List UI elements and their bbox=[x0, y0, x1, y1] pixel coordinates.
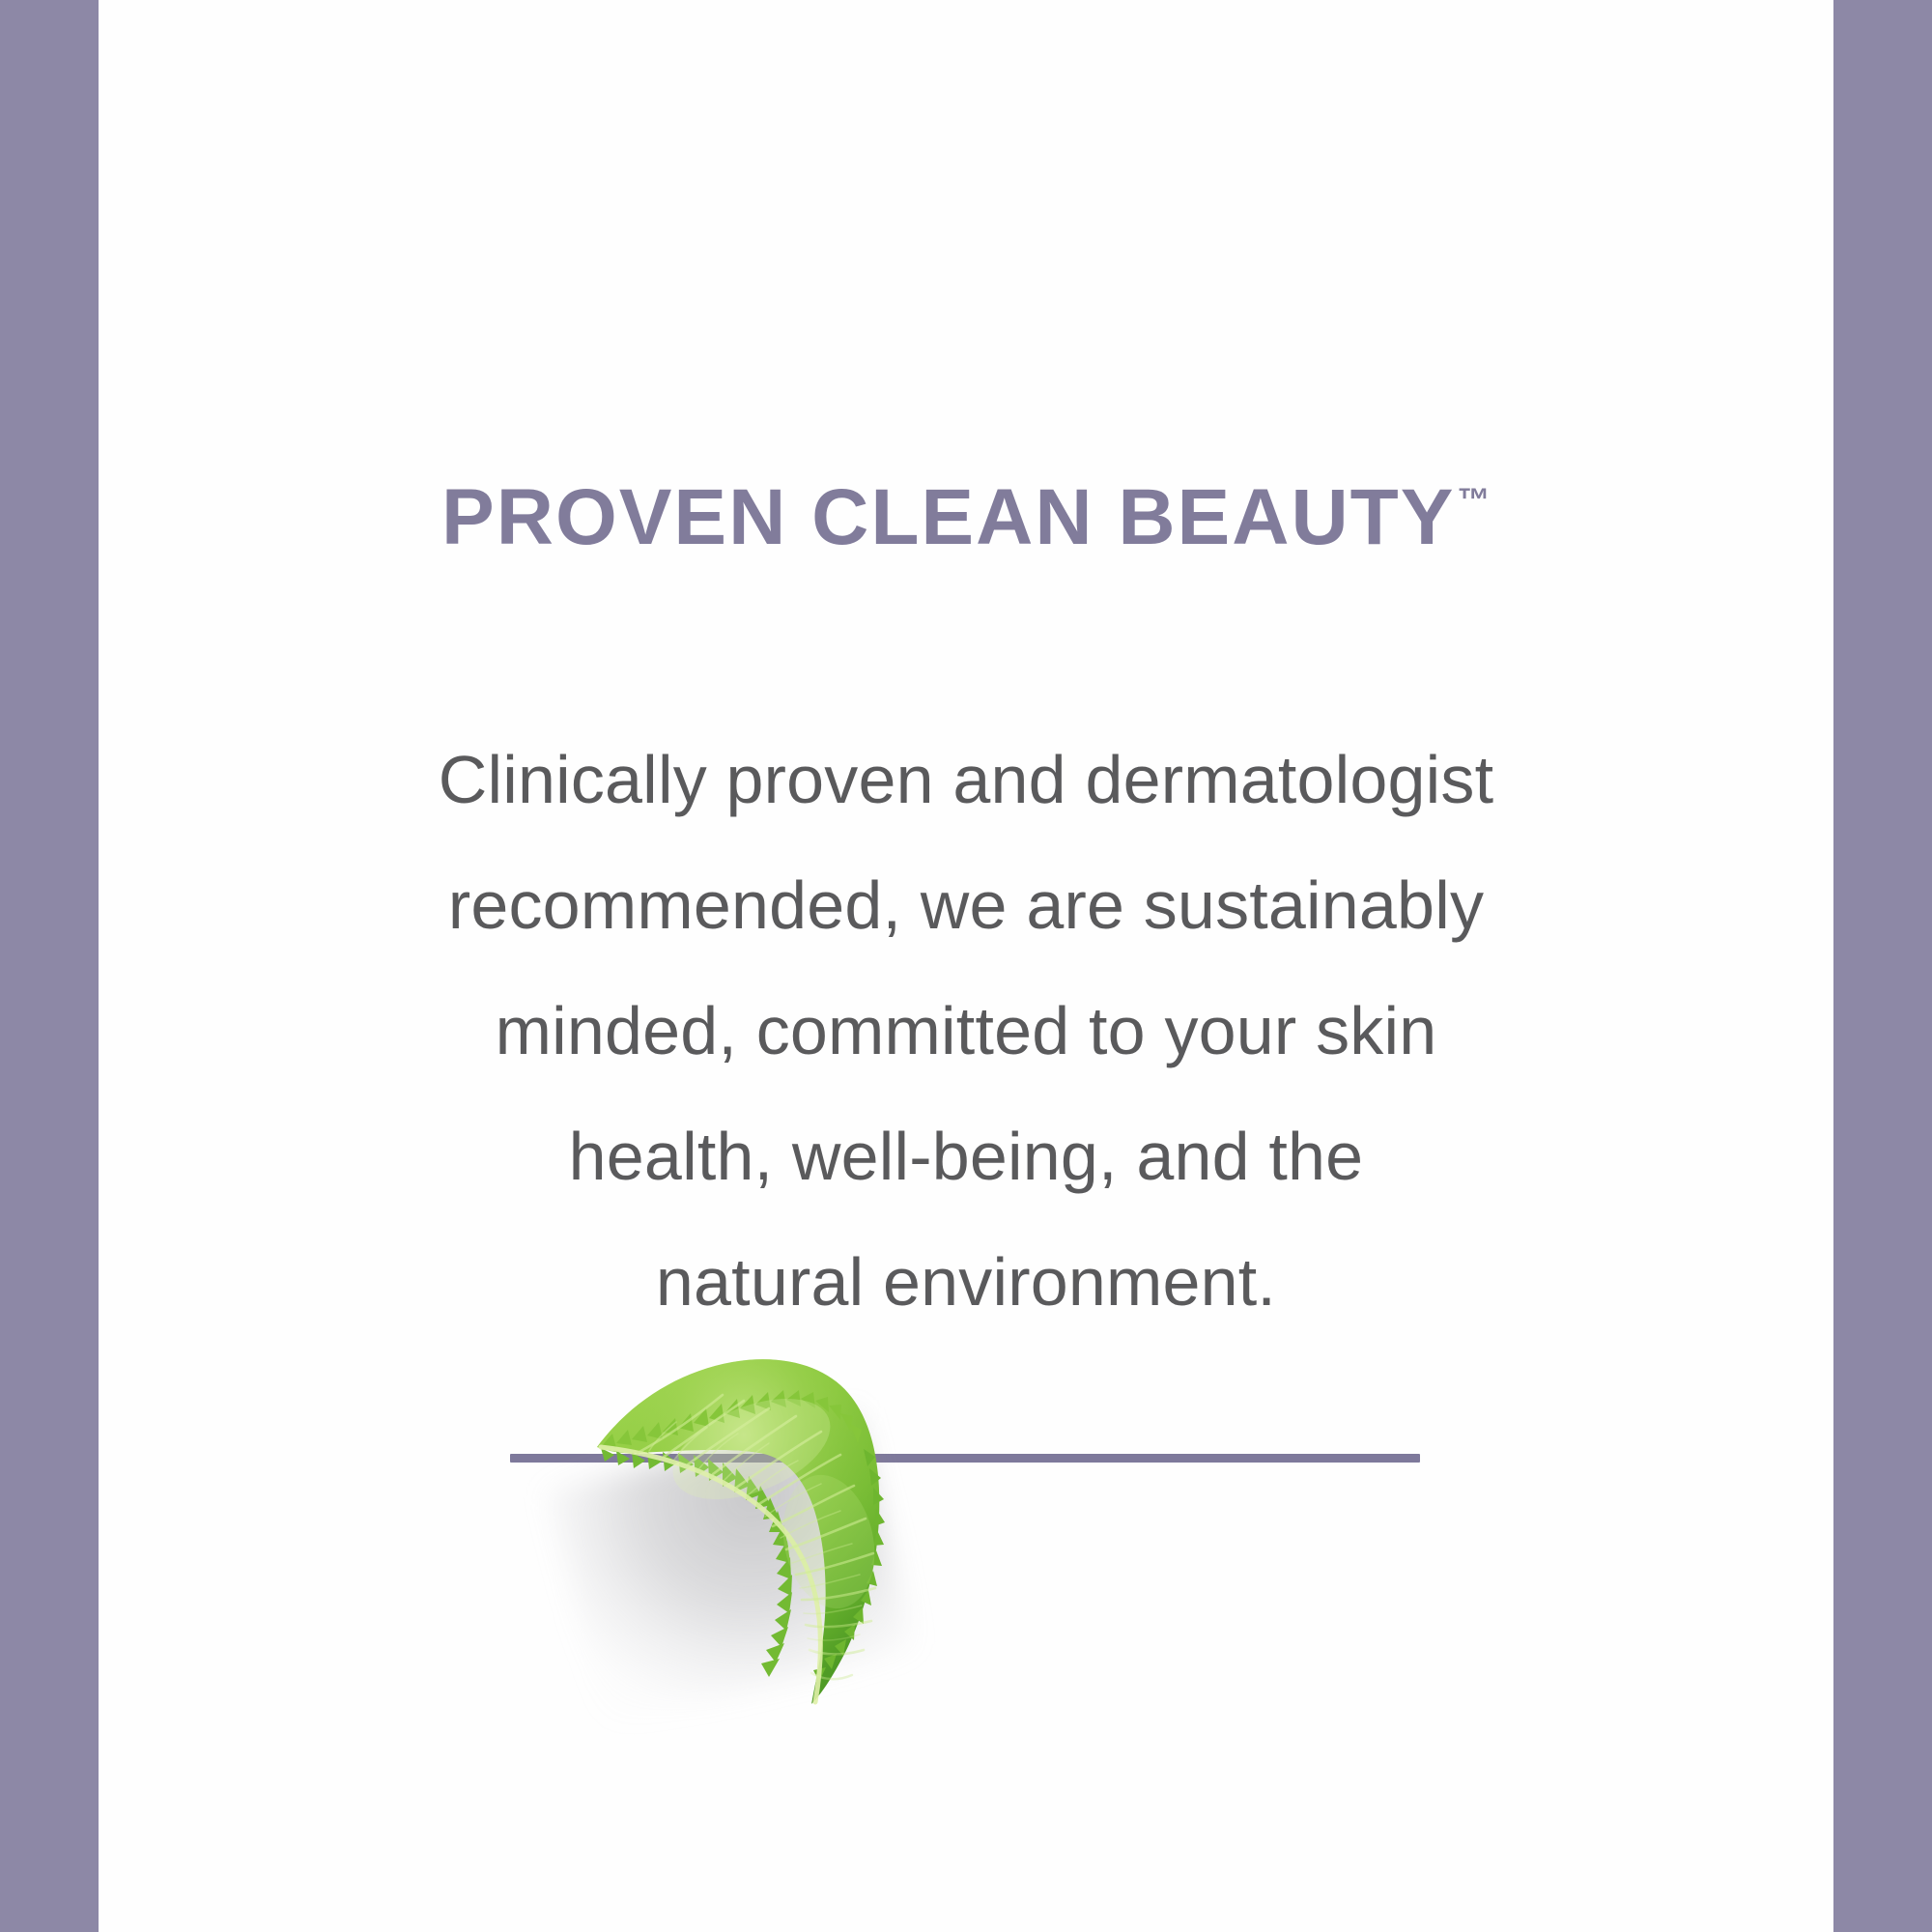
green-leaf-icon bbox=[562, 1333, 968, 1739]
body-line-3: minded, committed to your skin bbox=[99, 968, 1833, 1094]
body-line-4: health, well-being, and the bbox=[99, 1094, 1833, 1219]
page-title-text: PROVEN CLEAN BEAUTY bbox=[441, 473, 1455, 561]
divider-and-leaf bbox=[99, 1333, 1833, 1739]
right-purple-bar bbox=[1833, 0, 1932, 1932]
body-line-5: natural environment. bbox=[99, 1219, 1833, 1345]
leaf-group bbox=[562, 1333, 968, 1739]
body-paragraph: Clinically proven and dermatologist reco… bbox=[99, 717, 1833, 1345]
promo-card-page: PROVEN CLEAN BEAUTY™ Clinically proven a… bbox=[0, 0, 1932, 1932]
left-purple-bar bbox=[0, 0, 99, 1932]
content-card: PROVEN CLEAN BEAUTY™ Clinically proven a… bbox=[99, 0, 1833, 1932]
body-line-1: Clinically proven and dermatologist bbox=[99, 717, 1833, 842]
trademark-symbol: ™ bbox=[1457, 482, 1491, 519]
page-title: PROVEN CLEAN BEAUTY™ bbox=[99, 478, 1833, 557]
body-line-2: recommended, we are sustainably bbox=[99, 842, 1833, 968]
